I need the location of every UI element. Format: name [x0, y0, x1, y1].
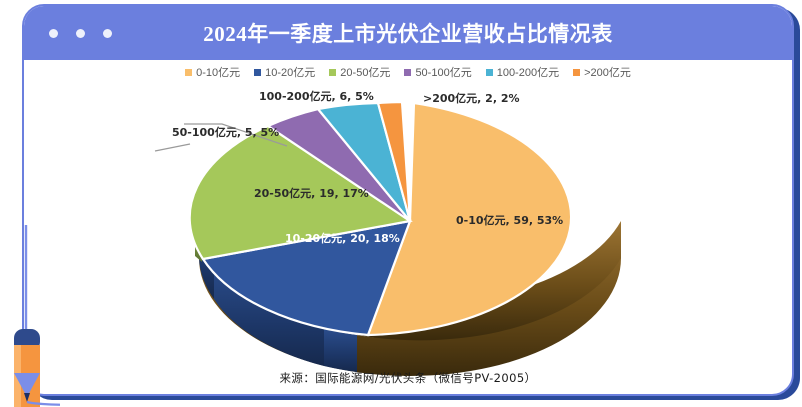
legend-item-2[interactable]: 20-50亿元	[329, 64, 390, 80]
leader-line-50-100	[155, 144, 190, 151]
legend-item-1[interactable]: 10-20亿元	[254, 64, 315, 80]
pen-illustration	[0, 225, 60, 407]
legend-label-5: >200亿元	[584, 64, 631, 80]
legend-item-3[interactable]: 50-100亿元	[404, 64, 471, 80]
data-label-0-10: 0-10亿元, 59, 53%	[456, 212, 563, 228]
legend-label-1: 10-20亿元	[265, 64, 315, 80]
window-dot-icon-1[interactable]	[49, 29, 58, 38]
window-dot-icon-2[interactable]	[76, 29, 85, 38]
chart-legend: 0-10亿元 10-20亿元 20-50亿元 50-100亿元 100-200亿…	[24, 64, 792, 80]
pie-side-wall-blue-3	[324, 329, 357, 372]
page-title: 2024年一季度上市光伏企业营收占比情况表	[24, 18, 792, 48]
window-dots	[49, 29, 112, 38]
chart-region: 0-10亿元 10-20亿元 20-50亿元 50-100亿元 100-200亿…	[24, 60, 792, 396]
data-label-100-200: 100-200亿元, 6, 5%	[259, 88, 374, 104]
chart-card: 2024年一季度上市光伏企业营收占比情况表 0-10亿元 10-20亿元 20-…	[22, 4, 794, 396]
legend-swatch-icon-0	[185, 69, 192, 76]
legend-label-4: 100-200亿元	[497, 64, 559, 80]
legend-item-5[interactable]: >200亿元	[573, 64, 631, 80]
legend-swatch-icon-5	[573, 69, 580, 76]
legend-label-2: 20-50亿元	[340, 64, 390, 80]
legend-swatch-icon-4	[486, 69, 493, 76]
legend-item-0[interactable]: 0-10亿元	[185, 64, 240, 80]
pie-chart: 100-200亿元, 6, 5% >200亿元, 2, 2% 50-100亿元,…	[24, 82, 792, 382]
legend-swatch-icon-1	[254, 69, 261, 76]
legend-label-3: 50-100亿元	[415, 64, 471, 80]
data-label-10-20: 10-20亿元, 20, 18%	[285, 230, 400, 246]
legend-swatch-icon-3	[404, 69, 411, 76]
data-label-20-50: 20-50亿元, 19, 17%	[254, 185, 369, 201]
data-label-over-200: >200亿元, 2, 2%	[423, 90, 520, 106]
source-note: 来源：国际能源网/光伏头条（微信号PV-2005）	[24, 370, 792, 386]
legend-swatch-icon-2	[329, 69, 336, 76]
data-label-50-100: 50-100亿元, 5, 5%	[172, 124, 279, 140]
screenshot-root: 2024年一季度上市光伏企业营收占比情况表 0-10亿元 10-20亿元 20-…	[0, 0, 802, 407]
window-titlebar: 2024年一季度上市光伏企业营收占比情况表	[24, 6, 792, 60]
window-dot-icon-3[interactable]	[103, 29, 112, 38]
legend-label-0: 0-10亿元	[196, 64, 240, 80]
pie-chart-svg	[24, 82, 794, 382]
legend-item-4[interactable]: 100-200亿元	[486, 64, 559, 80]
